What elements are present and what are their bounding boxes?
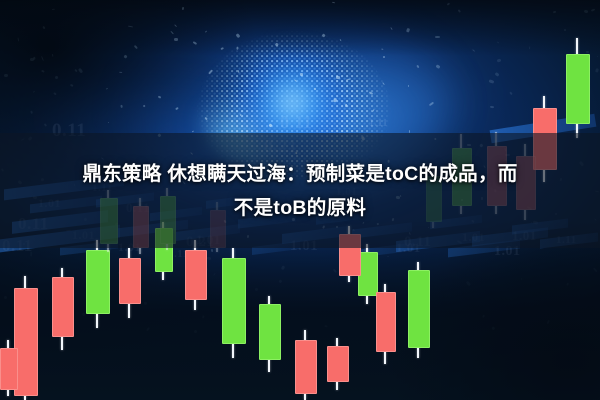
candlestick-body bbox=[295, 340, 317, 394]
candlestick-down bbox=[295, 330, 315, 400]
headline-line-1: 鼎东策略 休想瞒天过海：预制菜是toC的成品，而 bbox=[0, 157, 600, 191]
candlestick-body bbox=[86, 250, 110, 314]
background-number: 0.11 bbox=[280, 112, 313, 133]
candlestick-down bbox=[52, 268, 72, 350]
candlestick-down bbox=[185, 240, 205, 310]
candlestick-down bbox=[119, 248, 139, 318]
candlestick-body bbox=[376, 292, 396, 352]
candlestick-body bbox=[185, 250, 207, 300]
candlestick-body bbox=[0, 348, 18, 390]
candlestick-up bbox=[566, 38, 588, 138]
background-number: 1.11 bbox=[369, 118, 388, 129]
headline: 鼎东策略 休想瞒天过海：预制菜是toC的成品，而 不是toB的原料 bbox=[0, 157, 600, 225]
candlestick-body bbox=[408, 270, 430, 348]
candlestick-body bbox=[52, 277, 74, 337]
headline-line-2: 不是toB的原料 bbox=[0, 191, 600, 225]
candlestick-body bbox=[259, 304, 281, 360]
candlestick-body bbox=[566, 54, 590, 124]
candlestick-down bbox=[376, 284, 394, 364]
candlestick-body bbox=[119, 258, 141, 304]
candlestick-up bbox=[259, 296, 279, 372]
candlestick-down bbox=[0, 340, 16, 396]
candlestick-up bbox=[222, 248, 244, 358]
candlestick-body bbox=[358, 252, 378, 296]
thumbnail-image: 0.110.110.111.011.011.111.010.111.010.11… bbox=[0, 0, 600, 400]
candlestick-up bbox=[86, 240, 108, 328]
candlestick-down bbox=[327, 338, 347, 390]
candlestick-body bbox=[222, 258, 246, 344]
candlestick-up bbox=[408, 262, 428, 358]
candlestick-body bbox=[327, 346, 349, 382]
